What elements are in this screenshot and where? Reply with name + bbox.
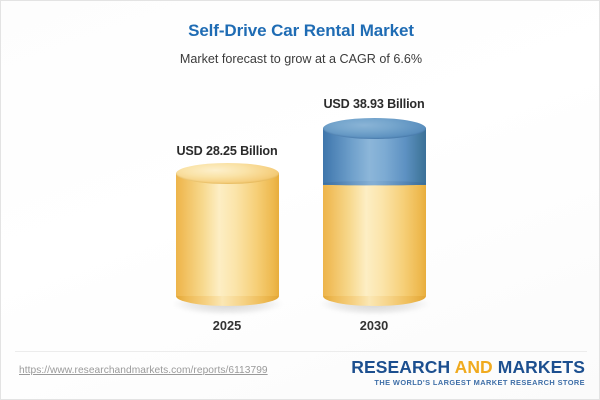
report-url-link[interactable]: https://www.researchandmarkets.com/repor… bbox=[19, 365, 268, 376]
cylinder-top-cap bbox=[323, 118, 426, 139]
footer: https://www.researchandmarkets.com/repor… bbox=[1, 351, 600, 399]
logo-word-markets: MARKETS bbox=[498, 357, 585, 377]
value-label-2025: USD 28.25 Billion bbox=[147, 144, 307, 158]
research-and-markets-logo[interactable]: RESEARCH AND MARKETS THE WORLD'S LARGEST… bbox=[351, 357, 585, 388]
cylinder-segment-base bbox=[176, 173, 279, 296]
logo-wordmark: RESEARCH AND MARKETS bbox=[351, 357, 585, 377]
cylinder-segment-base bbox=[323, 183, 426, 296]
chart-plot-area: USD 28.25 Billion 2025 USD 38.93 Billion… bbox=[1, 1, 600, 351]
logo-word-and: AND bbox=[455, 357, 493, 377]
infographic-card: Self-Drive Car Rental Market Market fore… bbox=[0, 0, 600, 400]
category-label-2025: 2025 bbox=[147, 318, 307, 333]
category-label-2030: 2030 bbox=[294, 318, 454, 333]
cylinder-top-cap bbox=[176, 163, 279, 184]
value-label-2030: USD 38.93 Billion bbox=[294, 97, 454, 111]
cylinder-segment-seam bbox=[323, 181, 426, 186]
logo-word-research: RESEARCH bbox=[351, 357, 450, 377]
logo-tagline: THE WORLD'S LARGEST MARKET RESEARCH STOR… bbox=[351, 378, 585, 388]
